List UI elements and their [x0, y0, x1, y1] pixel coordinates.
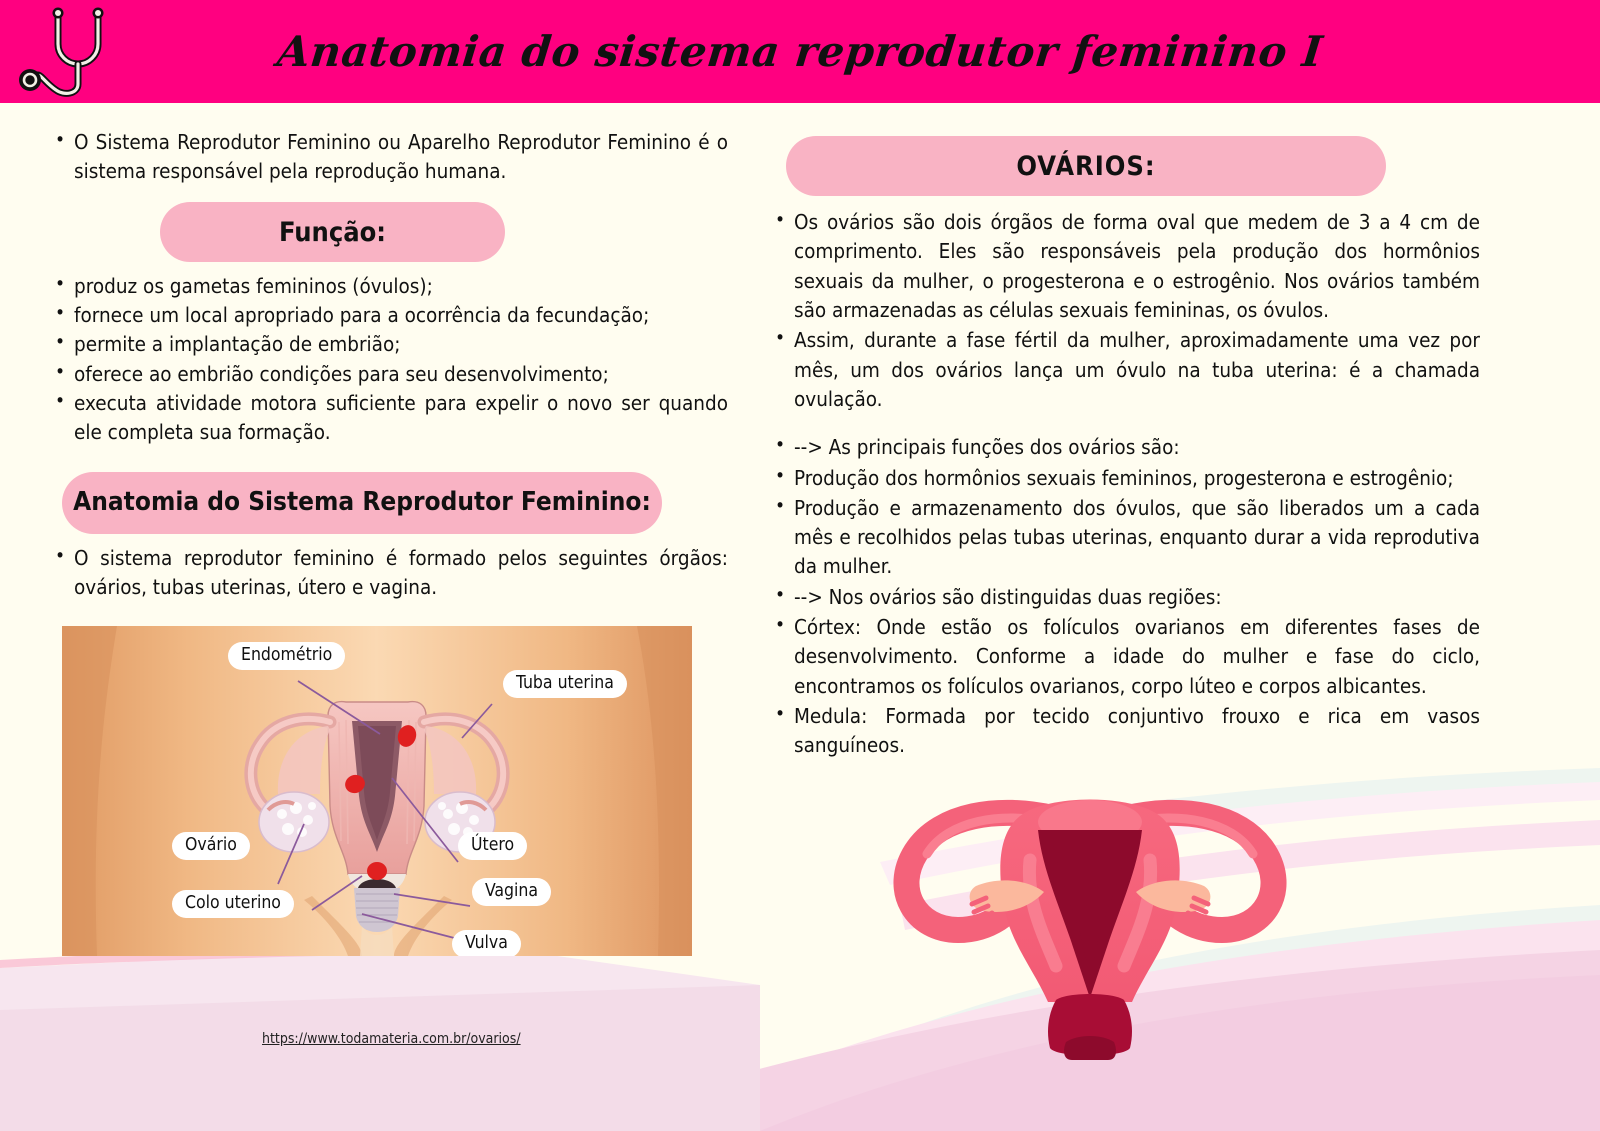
- list-item: O sistema reprodutor feminino é formado …: [48, 544, 728, 603]
- anatomia-list: O sistema reprodutor feminino é formado …: [48, 544, 728, 603]
- list-item: executa atividade motora suficiente para…: [48, 389, 728, 448]
- ovarios-funcoes-list: --> As principais funções dos ovários sã…: [768, 433, 1480, 760]
- list-item: fornece um local apropriado para a ocorr…: [48, 301, 728, 330]
- list-item: Os ovários são dois órgãos de forma oval…: [768, 208, 1480, 325]
- infographic-page: Anatomia do sistema reprodutor feminino …: [0, 0, 1600, 1131]
- spacer: [768, 415, 1480, 433]
- list-item: produz os gametas femininos (óvulos);: [48, 272, 728, 301]
- page-title: Anatomia do sistema reprodutor feminino …: [0, 0, 1600, 103]
- label-vagina: Vagina: [472, 878, 551, 906]
- right-column: OVÁRIOS: Os ovários são dois órgãos de f…: [768, 128, 1480, 762]
- label-ovario: Ovário: [172, 832, 250, 860]
- female-reproductive-anatomy-diagram: Endométrio Tuba uterina Ovário Útero Col…: [62, 626, 692, 956]
- uterus-ovaries-illustration: [880, 770, 1300, 1060]
- left-column: O Sistema Reprodutor Feminino ou Aparelh…: [48, 128, 728, 603]
- label-utero: Útero: [458, 832, 527, 860]
- intro-list: O Sistema Reprodutor Feminino ou Aparelh…: [48, 128, 728, 187]
- list-item: O Sistema Reprodutor Feminino ou Aparelh…: [48, 128, 728, 187]
- list-item: oferece ao embrião condições para seu de…: [48, 360, 728, 389]
- list-item: Córtex: Onde estão os folículos ovariano…: [768, 613, 1480, 701]
- list-item: --> As principais funções dos ovários sã…: [768, 433, 1480, 462]
- label-colo-uterino: Colo uterino: [172, 890, 294, 918]
- funcao-heading: Função:: [160, 202, 505, 262]
- funcao-list: produz os gametas femininos (óvulos); fo…: [48, 272, 728, 448]
- list-item: permite a implantação de embrião;: [48, 330, 728, 359]
- list-item: Medula: Formada por tecido conjuntivo fr…: [768, 702, 1480, 761]
- list-item: --> Nos ovários são distinguidas duas re…: [768, 583, 1480, 612]
- ovarios-list: Os ovários são dois órgãos de forma oval…: [768, 208, 1480, 414]
- anatomia-heading: Anatomia do Sistema Reprodutor Feminino:: [62, 472, 662, 534]
- source-link[interactable]: https://www.todamateria.com.br/ovarios/: [262, 1031, 521, 1047]
- label-endometrio: Endométrio: [228, 642, 345, 670]
- label-vulva: Vulva: [452, 930, 521, 956]
- label-tuba-uterina: Tuba uterina: [503, 670, 627, 698]
- ovarios-heading: OVÁRIOS:: [786, 136, 1386, 196]
- page-header: Anatomia do sistema reprodutor feminino …: [0, 0, 1600, 103]
- list-item: Produção e armazenamento dos óvulos, que…: [768, 494, 1480, 582]
- list-item: Produção dos hormônios sexuais femininos…: [768, 464, 1480, 493]
- list-item: Assim, durante a fase fértil da mulher, …: [768, 326, 1480, 414]
